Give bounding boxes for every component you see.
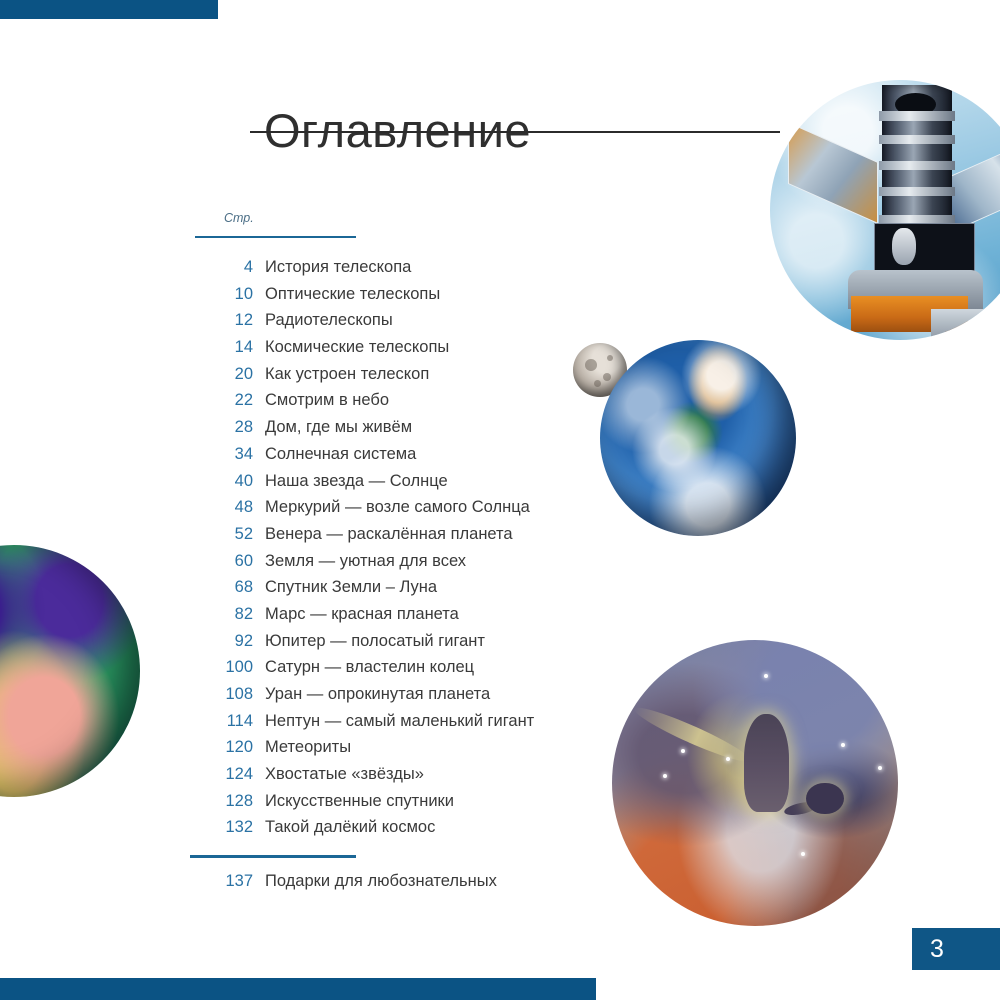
toc-entry[interactable]: 124Хвостатые «звёзды» bbox=[190, 765, 610, 792]
toc-entry-label: Венера — раскалённая планета bbox=[253, 525, 513, 544]
toc-page-number: 92 bbox=[190, 632, 253, 651]
toc-entry-label: Спутник Земли – Луна bbox=[253, 578, 437, 597]
toc-entry[interactable]: 92Юпитер — полосатый гигант bbox=[190, 632, 610, 659]
nebula-pillar bbox=[744, 714, 790, 811]
hubble-space-telescope-photo bbox=[770, 80, 1000, 340]
toc-entry[interactable]: 20Как устроен телескоп bbox=[190, 365, 610, 392]
toc-entry[interactable]: 132Такой далёкий космос bbox=[190, 818, 610, 845]
star bbox=[841, 743, 845, 747]
telescope-ring bbox=[879, 111, 954, 120]
toc-appendix-entry[interactable]: 137Подарки для любознательных bbox=[190, 872, 650, 899]
toc-entry-label: Такой далёкий космос bbox=[253, 818, 435, 837]
toc-page-number: 100 bbox=[190, 658, 253, 677]
toc-bottom-divider bbox=[190, 855, 356, 858]
toc-page-number: 68 bbox=[190, 578, 253, 597]
telescope-ring bbox=[879, 135, 954, 144]
equipment-bay bbox=[874, 223, 975, 274]
toc-entry-label: Наша звезда — Солнце bbox=[253, 472, 448, 491]
star bbox=[726, 757, 730, 761]
toc-appendix-list: 137Подарки для любознательных bbox=[190, 872, 650, 899]
star bbox=[663, 774, 667, 778]
toc-page-number: 40 bbox=[190, 472, 253, 491]
toc-entry-label: Сатурн — властелин колец bbox=[253, 658, 474, 677]
toc-page-number: 128 bbox=[190, 792, 253, 811]
toc-page-number: 137 bbox=[190, 872, 253, 891]
toc-entry[interactable]: 14Космические телескопы bbox=[190, 338, 610, 365]
toc-page-number: 4 bbox=[190, 258, 253, 277]
toc-entry-label: Космические телескопы bbox=[253, 338, 449, 357]
toc-page-number: 60 bbox=[190, 552, 253, 571]
toc-top-divider bbox=[195, 236, 356, 238]
star bbox=[681, 749, 685, 753]
toc-entry[interactable]: 52Венера — раскалённая планета bbox=[190, 525, 610, 552]
toc-entry[interactable]: 108Уран — опрокинутая планета bbox=[190, 685, 610, 712]
toc-page-number: 48 bbox=[190, 498, 253, 517]
toc-entry-label: Радиотелескопы bbox=[253, 311, 393, 330]
decorative-top-bar bbox=[0, 0, 218, 19]
solar-panel-left bbox=[788, 122, 878, 224]
toc-entry-label: Как устроен телескоп bbox=[253, 365, 429, 384]
toc-entry[interactable]: 12Радиотелескопы bbox=[190, 311, 610, 338]
toc-entry-label: Искусственные спутники bbox=[253, 792, 454, 811]
toc-entry[interactable]: 22Смотрим в небо bbox=[190, 391, 610, 418]
toc-page-number: 20 bbox=[190, 365, 253, 384]
toc-page-number: 82 bbox=[190, 605, 253, 624]
decorative-bottom-bar bbox=[0, 978, 596, 1000]
toc-page-number: 132 bbox=[190, 818, 253, 837]
toc-page-number: 114 bbox=[190, 712, 253, 731]
toc-entry-label: Хвостатые «звёзды» bbox=[253, 765, 424, 784]
telescope-ring bbox=[879, 187, 954, 196]
toc-entry[interactable]: 128Искусственные спутники bbox=[190, 792, 610, 819]
toc-entry-label: Смотрим в небо bbox=[253, 391, 389, 410]
toc-page-number: 124 bbox=[190, 765, 253, 784]
toc-page: Оглавление Стр. 4История телескопа10Опти… bbox=[0, 0, 1000, 1000]
toc-entry-label: Солнечная система bbox=[253, 445, 416, 464]
toc-entry-label: Меркурий — возле самого Солнца bbox=[253, 498, 530, 517]
toc-entry[interactable]: 10Оптические телескопы bbox=[190, 285, 610, 312]
toc-page-number: 22 bbox=[190, 391, 253, 410]
venus-planet-photo bbox=[0, 545, 140, 797]
toc-entry[interactable]: 114Нептун — самый маленький гигант bbox=[190, 712, 610, 739]
toc-entry[interactable]: 28Дом, где мы живём bbox=[190, 418, 610, 445]
nebula-photo bbox=[612, 640, 898, 926]
astronaut bbox=[892, 228, 915, 264]
star bbox=[801, 852, 805, 856]
toc-entry[interactable]: 100Сатурн — властелин колец bbox=[190, 658, 610, 685]
toc-page-number: 12 bbox=[190, 311, 253, 330]
toc-list: 4История телескопа10Оптические телескопы… bbox=[190, 258, 610, 845]
toc-entry[interactable]: 82Марс — красная планета bbox=[190, 605, 610, 632]
toc-entry-label: Марс — красная планета bbox=[253, 605, 459, 624]
toc-page-number: 34 bbox=[190, 445, 253, 464]
earth-planet-photo bbox=[600, 340, 796, 536]
star bbox=[764, 674, 768, 678]
toc-entry[interactable]: 48Меркурий — возле самого Солнца bbox=[190, 498, 610, 525]
toc-entry[interactable]: 68Спутник Земли – Луна bbox=[190, 578, 610, 605]
telescope-ring bbox=[879, 161, 954, 170]
toc-page-number: 14 bbox=[190, 338, 253, 357]
toc-entry-label: Земля — уютная для всех bbox=[253, 552, 466, 571]
toc-page-number: 10 bbox=[190, 285, 253, 304]
star bbox=[878, 766, 882, 770]
toc-entry-label: История телескопа bbox=[253, 258, 411, 277]
page-column-label: Стр. bbox=[224, 211, 254, 225]
title-divider bbox=[250, 131, 780, 133]
toc-page-number: 120 bbox=[190, 738, 253, 757]
page-number-badge: 3 bbox=[912, 928, 1000, 970]
toc-entry[interactable]: 120Метеориты bbox=[190, 738, 610, 765]
toc-entry-label: Оптические телескопы bbox=[253, 285, 440, 304]
toc-page-number: 108 bbox=[190, 685, 253, 704]
toc-entry-label: Подарки для любознательных bbox=[253, 872, 497, 891]
toc-entry[interactable]: 60Земля — уютная для всех bbox=[190, 552, 610, 579]
toc-entry[interactable]: 34Солнечная система bbox=[190, 445, 610, 472]
toc-entry[interactable]: 40Наша звезда — Солнце bbox=[190, 472, 610, 499]
toc-entry-label: Нептун — самый маленький гигант bbox=[253, 712, 534, 731]
nebula-globule bbox=[806, 783, 843, 814]
nebula-streak bbox=[631, 701, 753, 768]
toc-page-number: 52 bbox=[190, 525, 253, 544]
toc-entry-label: Юпитер — полосатый гигант bbox=[253, 632, 485, 651]
toc-entry[interactable]: 4История телескопа bbox=[190, 258, 610, 285]
toc-entry-label: Уран — опрокинутая планета bbox=[253, 685, 490, 704]
toc-page-number: 28 bbox=[190, 418, 253, 437]
lower-module bbox=[931, 309, 1000, 340]
toc-entry-label: Метеориты bbox=[253, 738, 351, 757]
toc-entry-label: Дом, где мы живём bbox=[253, 418, 412, 437]
